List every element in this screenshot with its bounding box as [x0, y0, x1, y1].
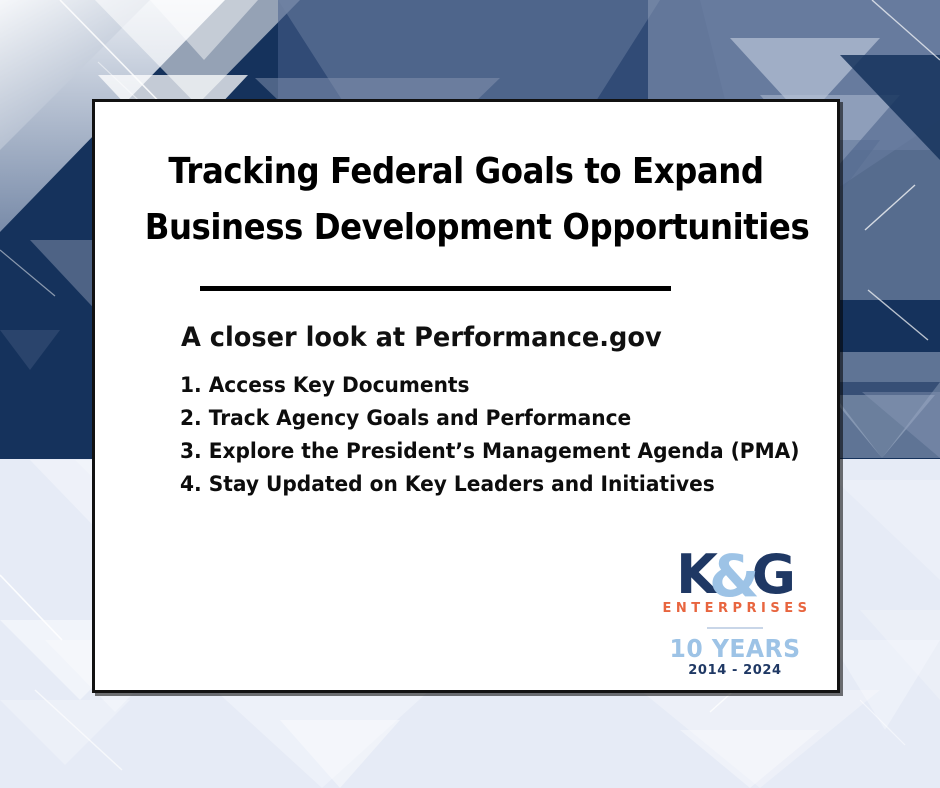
goal-list: 1. Access Key Documents 2. Track Agency … — [180, 369, 825, 501]
logo-wordmark: K&G — [655, 545, 815, 603]
list-item: 3. Explore the President’s Management Ag… — [180, 435, 799, 468]
logo-year-range: 2014 - 2024 — [655, 663, 815, 678]
list-item: 2. Track Agency Goals and Performance — [180, 402, 799, 435]
logo-divider — [707, 627, 763, 629]
company-logo: K&G ENTERPRISES 10 YEARS 2014 - 2024 — [655, 545, 815, 678]
title-line-1: Tracking Federal Goals to Expand — [145, 144, 788, 200]
logo-ampersand-icon: & — [709, 542, 758, 610]
card-inner: Tracking Federal Goals to Expand Busines… — [95, 102, 837, 690]
title-line-2: Business Development Opportunities — [145, 200, 788, 256]
page-title: Tracking Federal Goals to Expand Busines… — [95, 144, 837, 256]
list-item: 1. Access Key Documents — [180, 369, 799, 402]
slide-canvas: Tracking Federal Goals to Expand Busines… — [0, 0, 940, 788]
logo-anniversary-label: 10 YEARS — [660, 635, 810, 662]
title-divider — [200, 286, 671, 291]
subheading: A closer look at Performance.gov — [114, 321, 819, 355]
list-item: 4. Stay Updated on Key Leaders and Initi… — [180, 468, 799, 501]
content-card: Tracking Federal Goals to Expand Busines… — [92, 99, 840, 693]
